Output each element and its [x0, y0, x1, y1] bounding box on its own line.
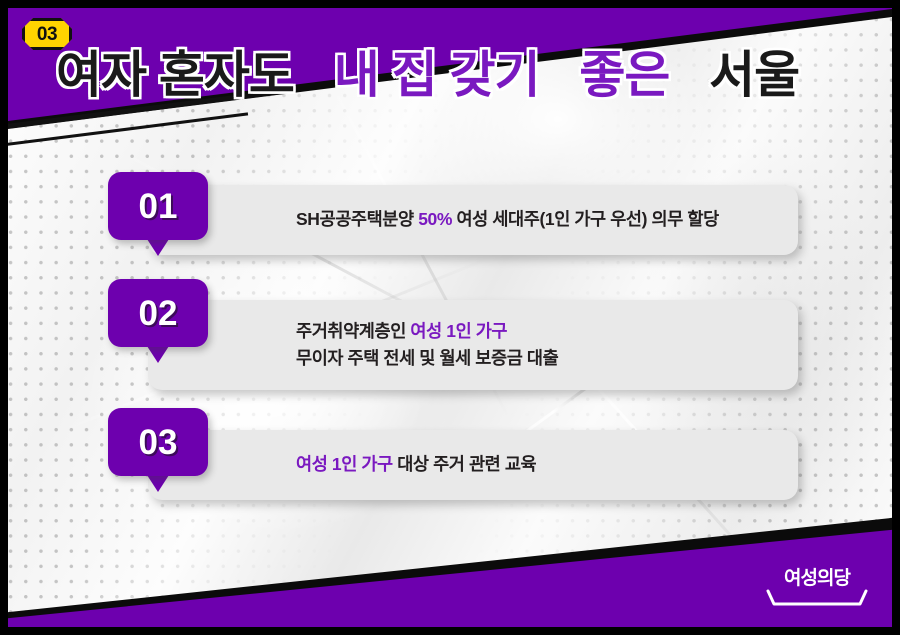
title-part-4: 서울 — [709, 50, 799, 100]
item-text-highlight: 여성 1인 가구 — [296, 454, 393, 474]
poster-root: 03 여자 혼자도 내 집 갖기 좋은 서울 SH공공주택분양 50% 여성 세… — [0, 0, 900, 635]
item-text: 여성 1인 가구 대상 주거 관련 교육 — [296, 451, 536, 478]
item-text-highlight: 여성 1인 가구 — [410, 321, 507, 341]
party-logo-label: 여성의당 — [762, 569, 872, 588]
item-text: 주거취약계층인 여성 1인 가구 무이자 주택 전세 및 월세 보증금 대출 — [296, 318, 558, 372]
title-part-3: 좋은 — [579, 50, 669, 100]
item-number-badge: 03 — [108, 408, 208, 476]
item-card: SH공공주택분양 50% 여성 세대주(1인 가구 우선) 의무 할당 — [148, 185, 798, 255]
item-text: SH공공주택분양 50% 여성 세대주(1인 가구 우선) 의무 할당 — [296, 206, 719, 233]
item-number-badge: 02 — [108, 279, 208, 347]
item-text-highlight: 50% — [418, 209, 452, 229]
item-text-segment: 대상 주거 관련 교육 — [393, 454, 536, 474]
item-number-label: 03 — [139, 425, 178, 460]
title-part-1: 여자 혼자도 — [56, 50, 294, 100]
party-logo: 여성의당 — [762, 569, 872, 613]
item-number-tail — [147, 346, 169, 363]
title-part-2: 내 집 갖기 — [334, 50, 540, 100]
item-number-badge: 01 — [108, 172, 208, 240]
section-number-badge: 03 — [22, 18, 72, 50]
item-card: 여성 1인 가구 대상 주거 관련 교육 — [148, 430, 798, 500]
item-card: 주거취약계층인 여성 1인 가구 무이자 주택 전세 및 월세 보증금 대출 — [148, 300, 798, 390]
page-title: 여자 혼자도 내 집 갖기 좋은 서울 — [56, 50, 799, 100]
item-text-segment: SH공공주택분양 — [296, 209, 418, 229]
item-text-segment: 주거취약계층인 — [296, 321, 410, 341]
item-number-tail — [147, 475, 169, 492]
item-text-segment: 여성 세대주(1인 가구 우선) 의무 할당 — [452, 209, 719, 229]
item-number-tail — [147, 239, 169, 256]
item-number-label: 02 — [139, 296, 178, 331]
logo-swoosh-icon — [762, 589, 872, 611]
item-number-label: 01 — [139, 189, 178, 224]
section-number-badge-label: 03 — [37, 25, 57, 44]
item-text-segment: 무이자 주택 전세 및 월세 보증금 대출 — [296, 348, 558, 368]
